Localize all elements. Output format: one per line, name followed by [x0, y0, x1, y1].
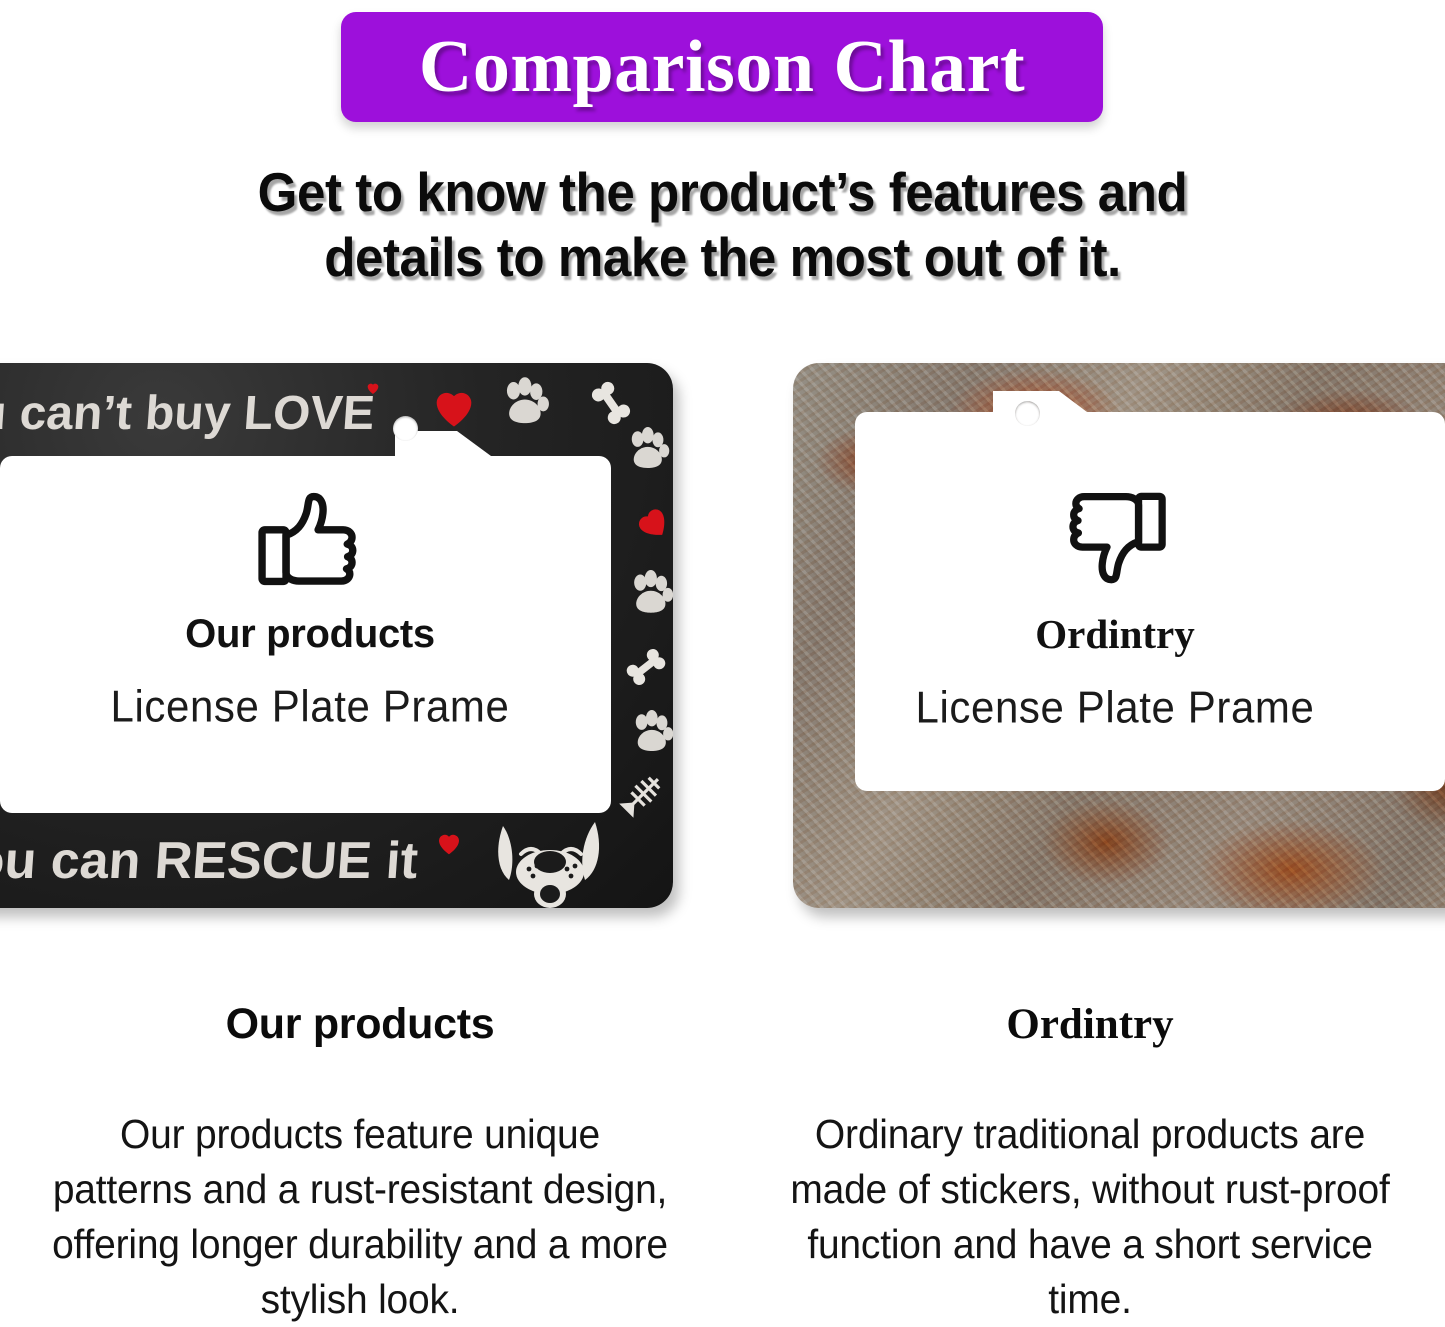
our-product-description-column: Our products Our products feature unique…	[30, 1000, 690, 1327]
column-heading: Our products	[30, 1000, 690, 1049]
heart-icon	[428, 381, 480, 433]
plate-shoulder-notch	[993, 391, 1123, 439]
thumbs-down-icon	[1057, 480, 1173, 596]
plate-title: Ordintry	[795, 610, 1435, 658]
frame-bottom-text-our: ou can RESCUE it	[0, 818, 673, 900]
screw-hole	[1015, 401, 1040, 426]
column-heading: Ordintry	[750, 1000, 1430, 1049]
paw-print-icon	[496, 375, 552, 431]
comparison-chart-banner: Comparison Chart	[341, 12, 1103, 122]
screw-hole	[393, 416, 418, 441]
fish-bone-icon	[616, 761, 673, 821]
thumbs-up-icon	[251, 480, 369, 598]
dog-bone-icon	[622, 643, 670, 691]
plate-subtitle: License Plate Prame	[795, 683, 1435, 733]
ordinary-description-column: Ordintry Ordinary traditional products a…	[750, 1000, 1430, 1327]
page-title: Comparison Chart	[419, 30, 1025, 104]
heart-icon	[434, 828, 464, 858]
svg-text:ou can RESCUE it: ou can RESCUE it	[0, 832, 420, 890]
our-product-plate-caption: Our products License Plate Prame	[0, 480, 620, 731]
paw-print-icon	[626, 708, 673, 758]
subtitle-line-2: details to make the most out of it.	[51, 225, 1395, 290]
dog-face-icon	[485, 814, 615, 908]
ordinary-plate-caption: Ordintry License Plate Prame	[795, 480, 1435, 732]
plate-title: Our products	[0, 612, 620, 657]
subtitle-line-1: Get to know the product’s features and	[51, 160, 1395, 225]
paw-print-icon	[622, 425, 672, 475]
heart-icon	[633, 503, 673, 543]
column-body-text: Ordinary traditional products are made o…	[767, 1107, 1413, 1327]
dog-bone-icon	[585, 377, 637, 429]
subtitle: Get to know the product’s features and d…	[51, 160, 1395, 290]
plate-subtitle: License Plate Prame	[0, 682, 620, 732]
svg-text:u can’t buy LOVE: u can’t buy LOVE	[0, 387, 376, 440]
heart-icon	[365, 380, 381, 396]
paw-print-icon	[624, 568, 673, 620]
column-body-text: Our products feature unique patterns and…	[47, 1107, 674, 1327]
frame-top-text-our: u can’t buy LOVE	[0, 373, 673, 451]
